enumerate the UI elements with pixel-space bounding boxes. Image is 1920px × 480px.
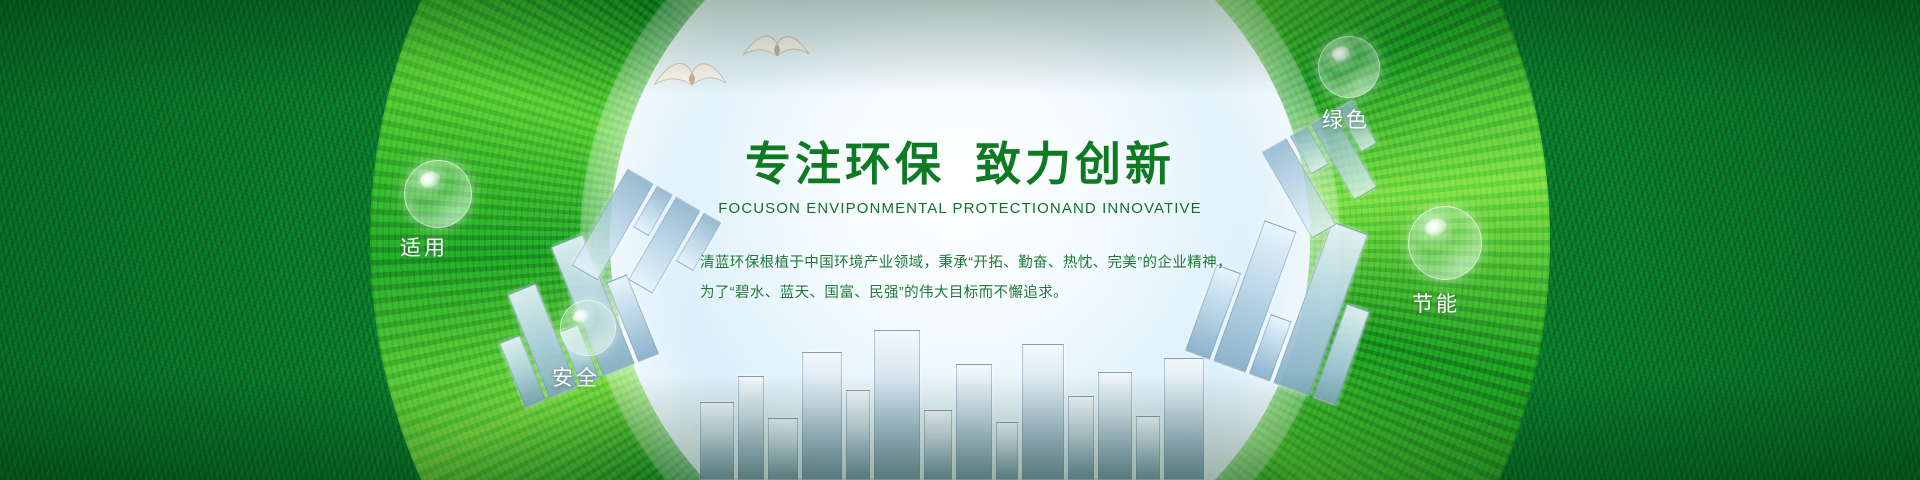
hero-banner: 绿色 适用 节能 安全 专注环保致力创新 FOCUSON ENVIPONMENT… bbox=[0, 0, 1920, 480]
vignette-overlay bbox=[0, 0, 1920, 480]
